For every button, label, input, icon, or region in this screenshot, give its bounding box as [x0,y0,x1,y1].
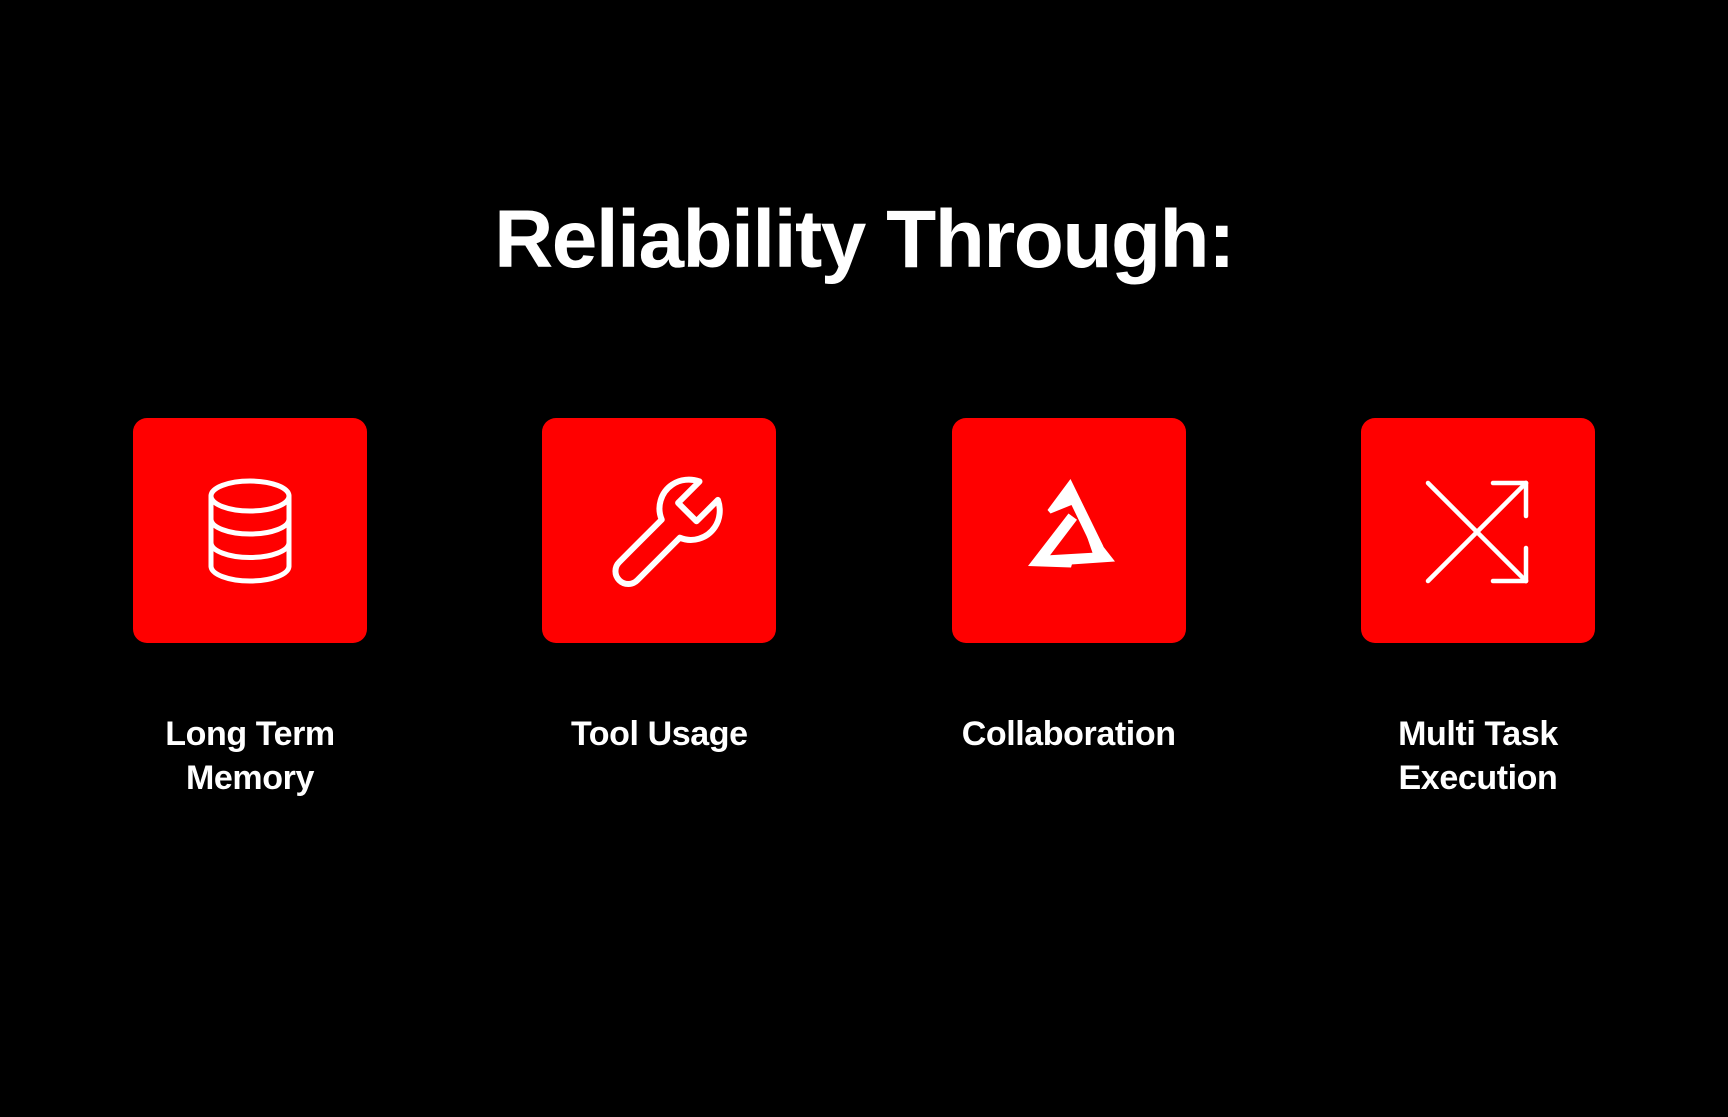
shuffle-arrows-icon [1414,467,1542,595]
icon-tile [952,418,1186,643]
icon-tile [1361,418,1595,643]
feature-card-label: Multi Task Execution [1398,713,1558,800]
feature-card-label: Collaboration [962,713,1176,757]
feature-card-multi-task-execution[interactable]: Multi Task Execution [1361,418,1595,800]
feature-card-label: Long Term Memory [165,713,335,800]
feature-card-label: Tool Usage [571,713,748,757]
page-title: Reliability Through: [0,197,1728,283]
wrench-icon [595,467,723,595]
feature-card-collaboration[interactable]: Collaboration [952,418,1186,757]
feature-cards-row: Long Term Memory Tool Usage [133,418,1595,800]
feature-card-tool-usage[interactable]: Tool Usage [542,418,776,757]
recycle-arrows-triangle-icon [1005,467,1133,595]
icon-tile [133,418,367,643]
icon-tile [542,418,776,643]
slide-root: Reliability Through: Long Term Memory [0,0,1728,1117]
database-icon [186,467,314,595]
feature-card-long-term-memory[interactable]: Long Term Memory [133,418,367,800]
